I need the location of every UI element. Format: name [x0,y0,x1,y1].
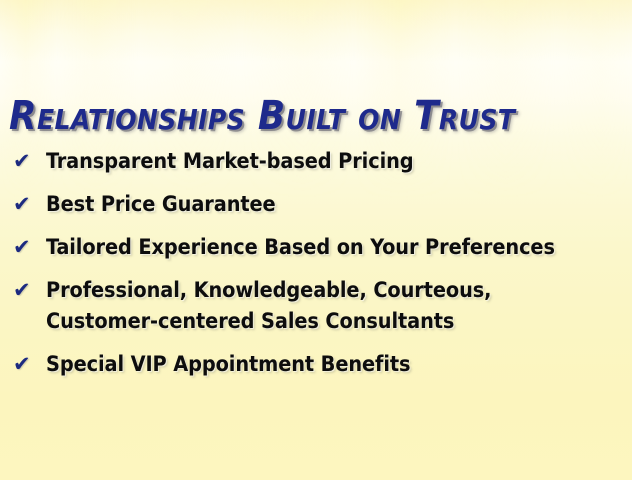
list-item: ✔ Best Price Guarantee [11,189,629,220]
list-item-text: Tailored Experience Based on Your Prefer… [46,232,629,263]
list-item-line: Special VIP Appointment Benefits [46,352,410,377]
bullet-list: ✔ Transparent Market-based Pricing ✔ Bes… [11,146,629,380]
list-item-line: Professional, Knowledgeable, Courteous, [46,278,491,303]
list-item-line-2: Customer-centered Sales Consultants [46,306,629,337]
checkmark-icon: ✔ [11,349,46,380]
checkmark-icon: ✔ [11,275,46,306]
list-item: ✔ Tailored Experience Based on Your Pref… [11,232,629,263]
checkmark-icon: ✔ [11,232,46,263]
slide-title: Relationships Built on Trust [9,94,626,138]
list-item-text: Best Price Guarantee [46,189,629,220]
list-item-text: Special VIP Appointment Benefits [46,349,629,380]
list-item: ✔ Special VIP Appointment Benefits [11,349,629,380]
list-item: ✔ Professional, Knowledgeable, Courteous… [11,275,629,337]
list-item-text: Professional, Knowledgeable, Courteous, … [46,275,629,337]
list-item: ✔ Transparent Market-based Pricing [11,146,629,177]
list-item-line: Tailored Experience Based on Your Prefer… [46,235,555,260]
list-item-line: Best Price Guarantee [46,192,276,217]
list-item-text: Transparent Market-based Pricing [46,146,629,177]
list-item-line: Transparent Market-based Pricing [46,149,414,174]
checkmark-icon: ✔ [11,146,46,177]
checkmark-icon: ✔ [11,189,46,220]
presentation-slide: Relationships Built on Trust ✔ Transpare… [0,0,632,480]
